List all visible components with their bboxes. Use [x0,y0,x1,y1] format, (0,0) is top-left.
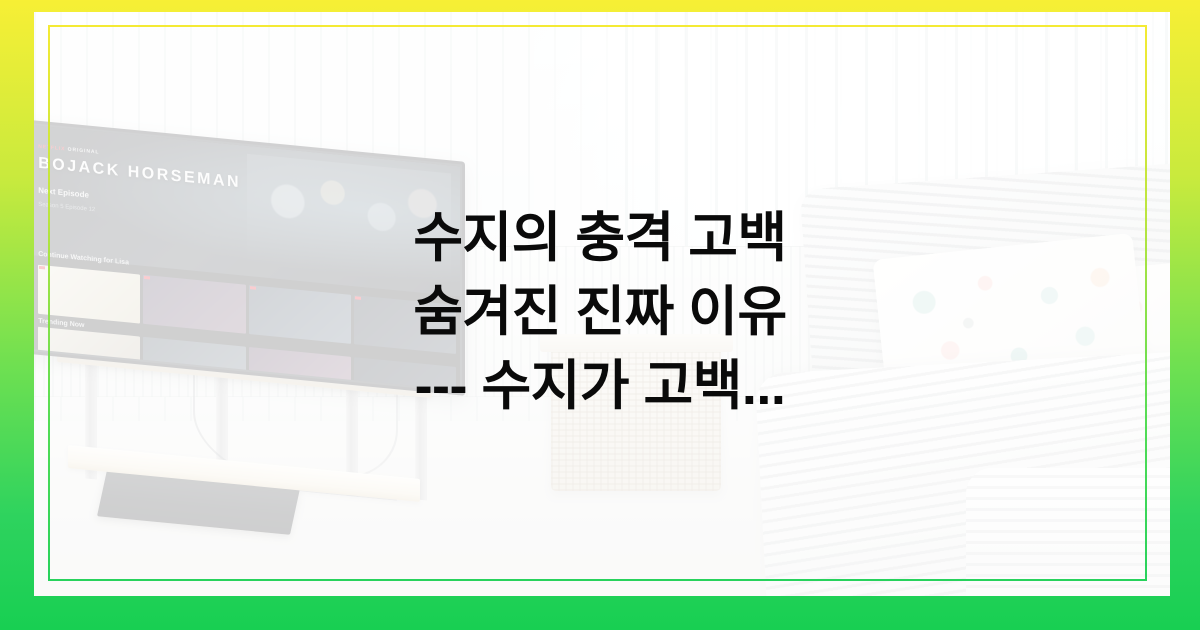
netflix-badge-icon [145,276,151,280]
hero-artwork [247,154,451,283]
netflix-tile [354,295,456,354]
television: NETFLIX ORIGINAL BOJACK HORSEMAN Next Ep… [34,119,466,396]
photo-plate: NETFLIX ORIGINAL BOJACK HORSEMAN Next Ep… [34,12,1170,596]
tv-screen: NETFLIX ORIGINAL BOJACK HORSEMAN Next Ep… [34,124,461,390]
thumbnail-card: NETFLIX ORIGINAL BOJACK HORSEMAN Next Ep… [0,0,1200,630]
netflix-badge-icon [40,266,46,270]
wicker-basket-rim [540,334,733,352]
netflix-tile [354,358,456,391]
netflix-tile [249,285,351,344]
netflix-badge-icon [355,296,361,300]
wicker-basket [551,339,721,491]
netflix-tile [39,265,141,324]
living-room-scene: NETFLIX ORIGINAL BOJACK HORSEMAN Next Ep… [34,12,1170,596]
netflix-badge-icon [250,286,256,290]
netflix-tile [144,275,246,334]
sofa-armrest [966,468,1170,596]
